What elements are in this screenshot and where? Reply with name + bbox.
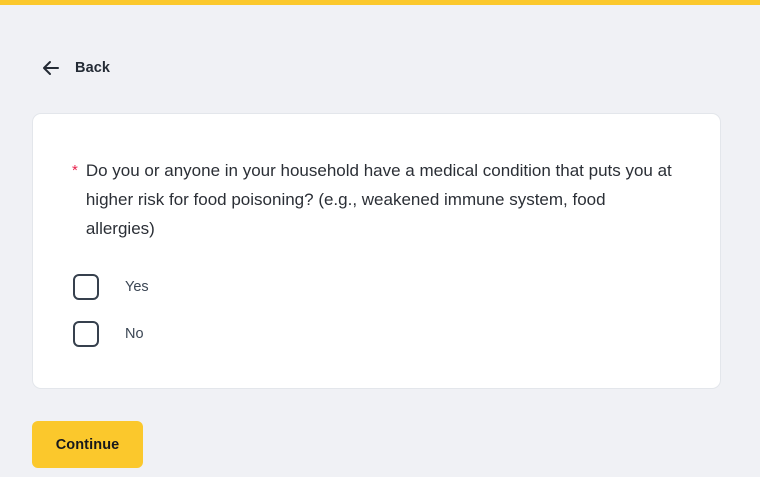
checkbox-no[interactable] [73,321,99,347]
continue-button[interactable]: Continue [32,421,143,468]
required-asterisk: * [72,156,78,185]
option-label-yes: Yes [125,279,149,295]
back-link[interactable]: Back [41,58,110,78]
question-block: * Do you or anyone in your household hav… [72,156,690,243]
options-list: Yes No [73,271,149,350]
option-label-no: No [125,326,144,342]
checkbox-yes[interactable] [73,274,99,300]
arrow-left-icon [41,58,61,78]
back-label: Back [75,60,110,76]
top-accent-bar [0,0,760,5]
question-text: Do you or anyone in your household have … [86,156,676,243]
option-row-yes[interactable]: Yes [73,271,149,303]
question-card: * Do you or anyone in your household hav… [32,113,721,389]
option-row-no[interactable]: No [73,318,149,350]
